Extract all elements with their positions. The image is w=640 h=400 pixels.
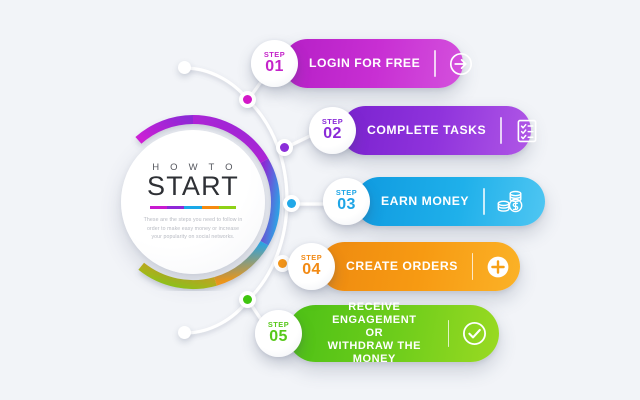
node-dot-01 (243, 95, 252, 104)
connector-node-step-01 (239, 91, 256, 108)
divider-seg-1 (150, 206, 167, 209)
connector-endpoint-bottom (178, 326, 191, 339)
step-badge-number-04: 04 (302, 262, 320, 279)
hub-circle: H O W T O START These are the steps you … (104, 113, 282, 291)
step-badge-05[interactable]: STEP 05 (255, 310, 302, 357)
step-pill-03[interactable]: EARN MONEY (355, 177, 545, 226)
divider-seg-2 (167, 206, 184, 209)
arrow-right-circle-icon (436, 51, 486, 77)
step-pill-01[interactable]: LOGIN FOR FREE (283, 39, 463, 88)
step-badge-number-03: 03 (337, 197, 355, 214)
hub-title: START (147, 173, 239, 200)
step-row-03[interactable]: STEP 03 EARN MONEY (323, 177, 545, 226)
step-pill-05[interactable]: RECEIVE ENGAGEMENT OR WITHDRAW THE MONEY (287, 305, 499, 362)
step-label-04: CREATE ORDERS (320, 259, 472, 273)
check-circle-icon (449, 320, 499, 347)
hub-description: These are the steps you need to follow i… (143, 216, 243, 241)
step-row-05[interactable]: STEP 05 RECEIVE ENGAGEMENT OR WITHDRAW T… (255, 305, 499, 362)
step-badge-number-02: 02 (323, 126, 341, 143)
step-badge-02[interactable]: STEP 02 (309, 107, 356, 154)
step-badge-number-01: 01 (265, 59, 283, 76)
step-row-02[interactable]: STEP 02 COMPLETE TASKS (309, 106, 531, 155)
coins-icon (485, 189, 535, 215)
infographic-canvas: H O W T O START These are the steps you … (0, 0, 640, 400)
step-badge-01[interactable]: STEP 01 (251, 40, 298, 87)
hub-color-divider (150, 206, 236, 209)
node-dot-05 (243, 295, 252, 304)
step-row-04[interactable]: STEP 04 CREATE ORDERS (288, 242, 520, 291)
step-badge-03[interactable]: STEP 03 (323, 178, 370, 225)
step-label-01: LOGIN FOR FREE (283, 56, 434, 70)
connector-node-step-05 (239, 291, 256, 308)
connector-endpoint-top (178, 61, 191, 74)
step-badge-number-05: 05 (269, 329, 287, 346)
step-label-05: RECEIVE ENGAGEMENT OR WITHDRAW THE MONEY (287, 301, 448, 366)
node-dot-03 (287, 199, 296, 208)
connector-node-step-03 (283, 195, 300, 212)
step-pill-02[interactable]: COMPLETE TASKS (341, 106, 531, 155)
divider-seg-4 (202, 206, 219, 209)
step-row-01[interactable]: STEP 01 LOGIN FOR FREE (251, 39, 463, 88)
hub-disc: H O W T O START These are the steps you … (121, 130, 265, 274)
plus-circle-filled-icon (473, 254, 523, 280)
step-pill-04[interactable]: CREATE ORDERS (320, 242, 520, 291)
step-label-02: COMPLETE TASKS (341, 123, 500, 137)
step-label-03: EARN MONEY (355, 194, 483, 208)
divider-seg-5 (219, 206, 236, 209)
divider-seg-3 (184, 206, 201, 209)
checklist-icon (502, 118, 552, 144)
step-badge-04[interactable]: STEP 04 (288, 243, 335, 290)
